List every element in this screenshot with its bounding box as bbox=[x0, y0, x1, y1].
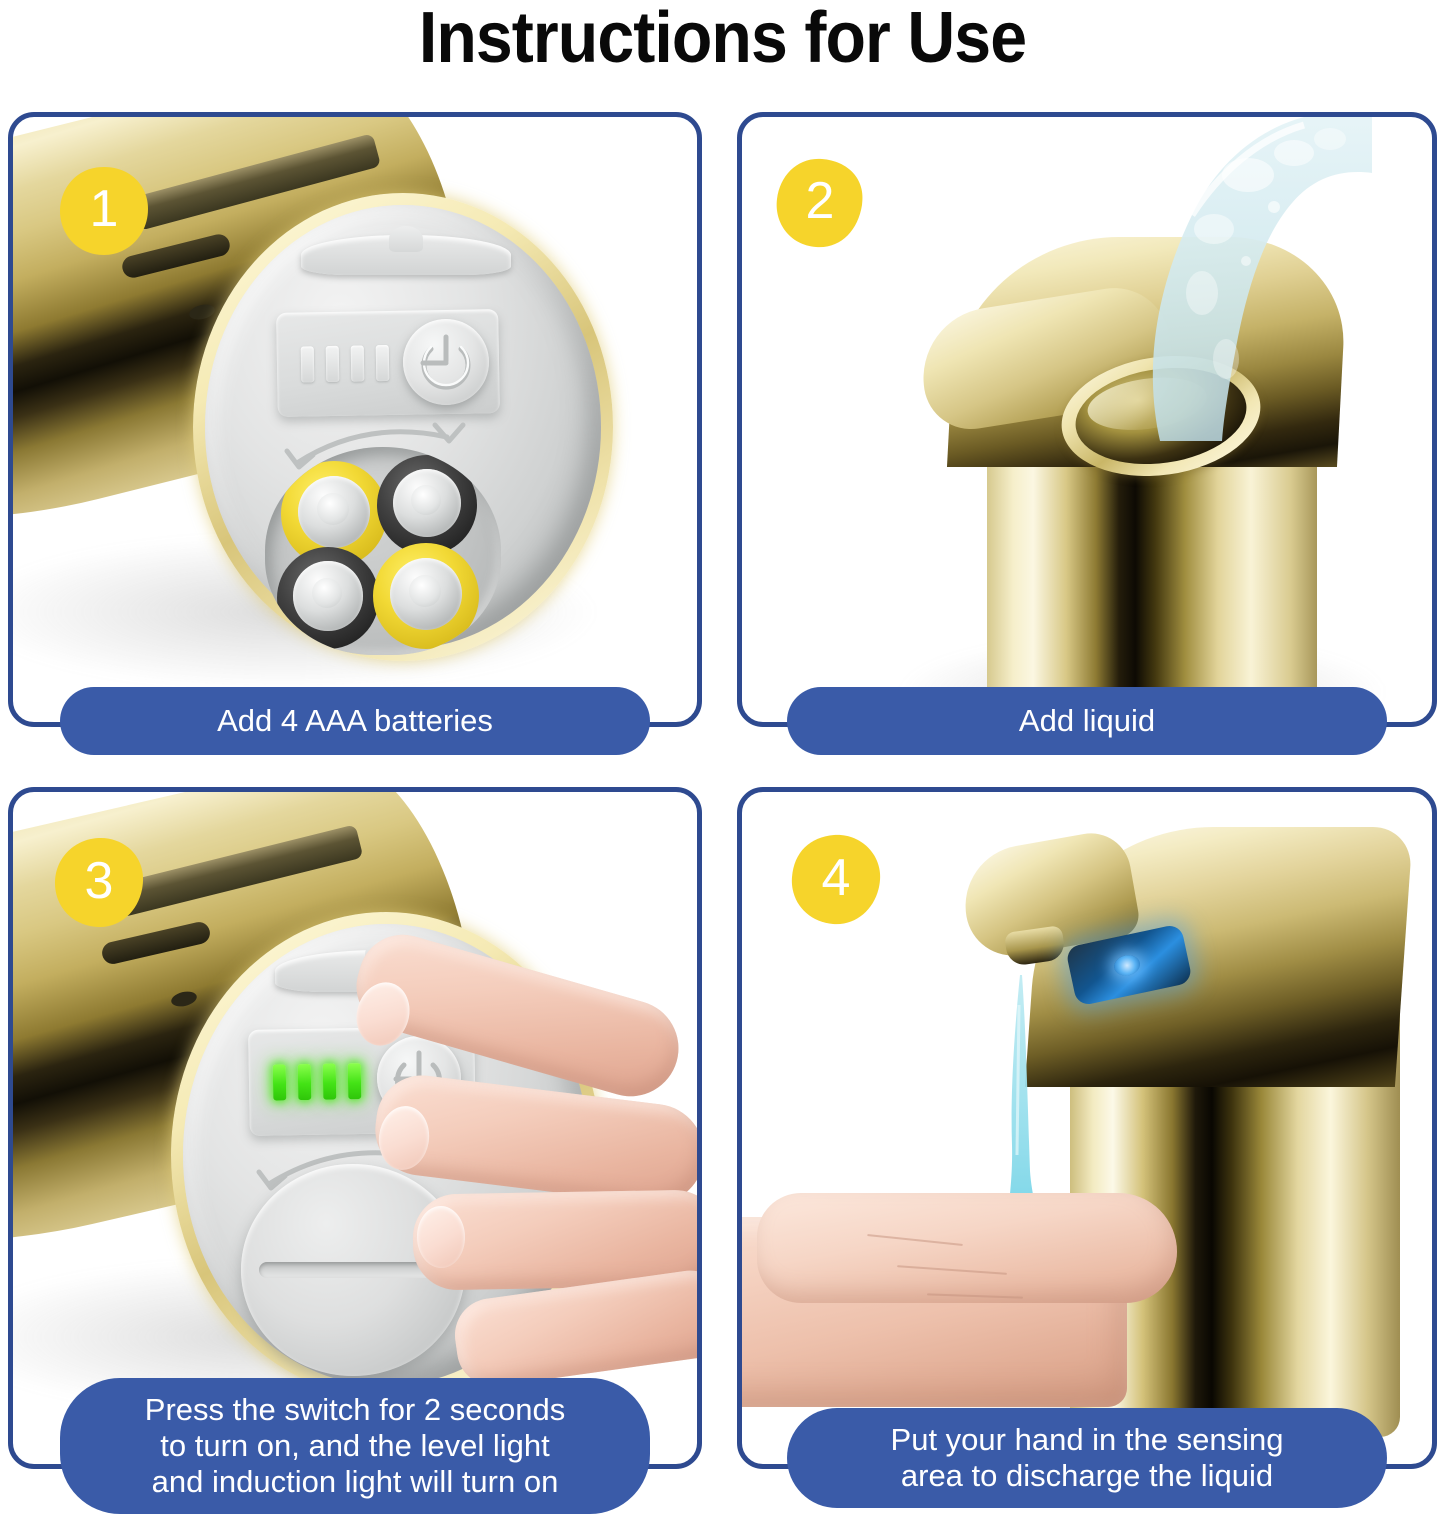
step-panel-2: 2 Add liquid bbox=[737, 112, 1437, 727]
sensor-light bbox=[1112, 953, 1142, 978]
step-number-badge-1: 1 bbox=[58, 165, 150, 257]
step-caption-3: Press the switch for 2 seconds to turn o… bbox=[60, 1378, 650, 1514]
power-icon bbox=[403, 319, 489, 405]
step-number-badge-2: 2 bbox=[774, 157, 866, 249]
step-2-illustration: 2 bbox=[742, 117, 1432, 722]
level-bar-2 bbox=[298, 1064, 312, 1100]
step-4-illustration: 4 bbox=[742, 792, 1432, 1464]
step-1-illustration: 1 bbox=[13, 117, 697, 722]
battery-bottom-right bbox=[373, 543, 479, 649]
battery-top-right bbox=[377, 455, 477, 555]
level-bar-4 bbox=[376, 345, 390, 381]
level-bar-1 bbox=[301, 346, 315, 382]
step-caption-1: Add 4 AAA batteries bbox=[60, 687, 650, 755]
page-title: Instructions for Use bbox=[58, 2, 1387, 74]
dispenser-2 bbox=[957, 237, 1377, 722]
step-caption-2: Add liquid bbox=[787, 687, 1387, 755]
battery-bottom-left bbox=[277, 547, 379, 649]
step-3-illustration: 3 bbox=[13, 792, 697, 1464]
step-number-badge-4: 4 bbox=[790, 834, 882, 926]
level-bar-2 bbox=[326, 346, 340, 382]
fingers bbox=[757, 1193, 1177, 1303]
level-indicator bbox=[301, 345, 390, 383]
step-panel-4: 4 Put your hand in the sensing area to d… bbox=[737, 787, 1437, 1469]
step-number-2: 2 bbox=[774, 157, 866, 249]
step-number-1: 1 bbox=[58, 165, 150, 257]
step-panel-3: 3 Press the switch for 2 seconds to turn… bbox=[8, 787, 702, 1469]
battery-compartment bbox=[265, 447, 501, 655]
step-number-4: 4 bbox=[790, 834, 882, 926]
open-palm-icon bbox=[742, 1187, 1207, 1417]
step-panel-1: 1 Add 4 AAA batteries bbox=[8, 112, 702, 727]
level-bar-1 bbox=[273, 1064, 287, 1100]
step-number-3: 3 bbox=[53, 837, 145, 929]
step-caption-4: Put your hand in the sensing area to dis… bbox=[787, 1408, 1387, 1508]
step-number-badge-3: 3 bbox=[53, 837, 145, 929]
level-bar-3 bbox=[351, 345, 365, 381]
instruction-grid: 1 Add 4 AAA batteries bbox=[0, 112, 1445, 1471]
power-button[interactable] bbox=[403, 319, 489, 405]
hand-finger-icon bbox=[317, 942, 697, 1422]
cap-notch bbox=[301, 235, 511, 275]
